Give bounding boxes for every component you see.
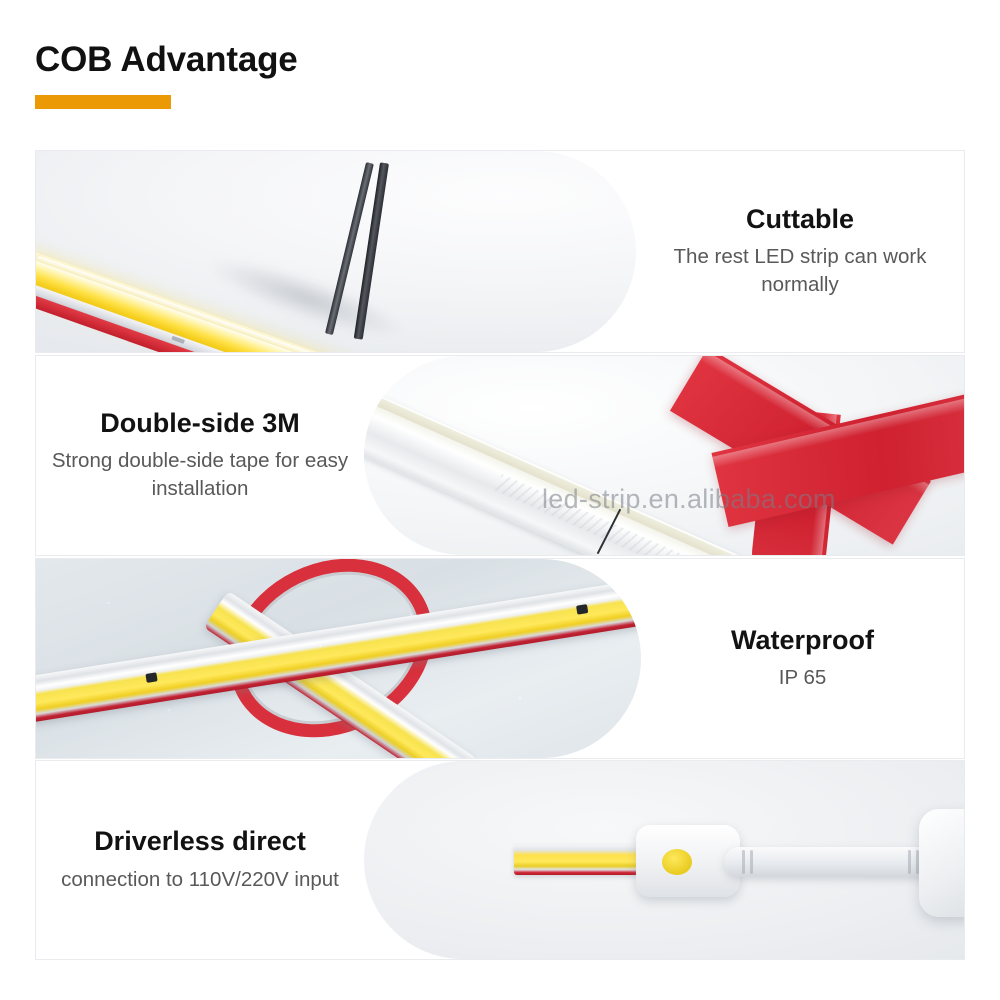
panel-subtext: connection to 110V/220V input [61, 866, 339, 894]
panel-subtext: The rest LED strip can work normally [650, 243, 950, 299]
panel-heading: Driverless direct [94, 826, 306, 856]
product-feature-infographic: COB Advantage [0, 0, 1000, 1000]
site-watermark: led-strip.en.alibaba.com [542, 484, 836, 515]
led-strip-end-graphic [514, 845, 654, 875]
panel-heading: Cuttable [746, 204, 854, 234]
panel-copy-waterproof: Waterproof IP 65 [641, 559, 964, 758]
red-3m-adhesive-tape-on-led-strip-photo: led-strip.en.alibaba.com [364, 356, 964, 555]
ac-plug-body-graphic [919, 809, 964, 917]
feature-panel-waterproof: Waterproof IP 65 [35, 558, 965, 759]
water-droplets-on-looped-led-strip-photo [36, 559, 641, 758]
led-strip-loop-graphic [66, 565, 626, 758]
feature-panel-double-side-3m: Double-side 3M Strong double-side tape f… [35, 355, 965, 556]
panel-subtext: Strong double-side tape for easy install… [50, 447, 350, 503]
scissors-cutting-cob-led-strip-photo [36, 151, 636, 352]
panel-copy-double-side-3m: Double-side 3M Strong double-side tape f… [36, 356, 364, 555]
title-underline-bar [35, 95, 171, 109]
panel-copy-driverless-direct: Driverless direct connection to 110V/220… [36, 761, 364, 959]
panel-heading: Double-side 3M [100, 408, 300, 438]
ac-power-plug-connected-to-led-strip-photo [364, 761, 964, 959]
panel-copy-cuttable: Cuttable The rest LED strip can work nor… [636, 151, 964, 352]
panel-subtext: IP 65 [779, 664, 827, 692]
panel-heading: Waterproof [731, 625, 874, 655]
page-title: COB Advantage [35, 42, 298, 77]
scissors-icon [336, 163, 436, 352]
power-cable-graphic [724, 847, 944, 877]
feature-panel-cuttable: Cuttable The rest LED strip can work nor… [35, 150, 965, 353]
page-header: COB Advantage [35, 42, 298, 109]
feature-panel-driverless-direct: Driverless direct connection to 110V/220… [35, 760, 965, 960]
